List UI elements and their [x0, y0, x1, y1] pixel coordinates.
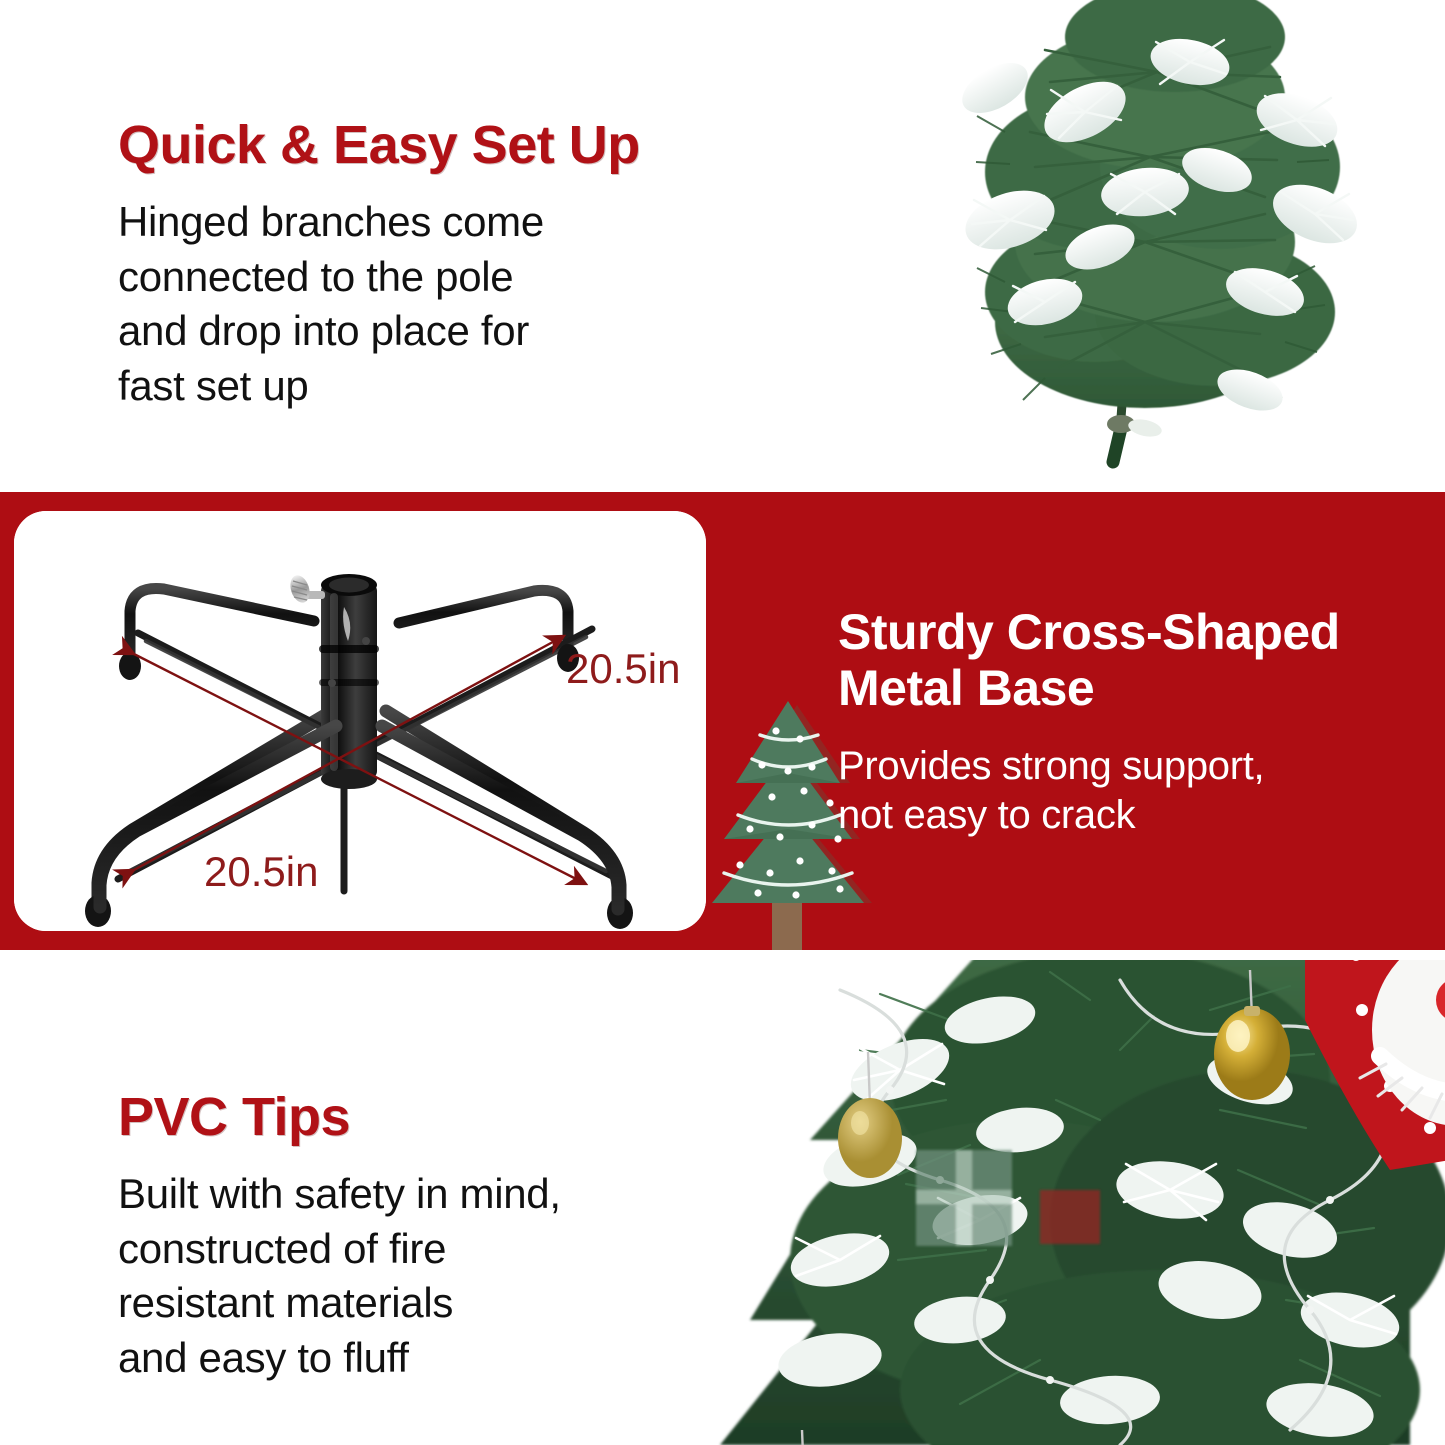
dimension-label-bottom-left: 20.5in: [204, 848, 318, 895]
dimension-label-top-right: 20.5in: [566, 645, 680, 692]
quick-setup-heading: Quick & Easy Set Up: [118, 118, 738, 173]
quick-setup-body: Hinged branches come connected to the po…: [118, 195, 738, 413]
decorated-tree-photo: [690, 960, 1445, 1445]
center-pole: [319, 574, 379, 789]
quick-setup-text-block: Quick & Easy Set Up Hinged branches come…: [118, 118, 738, 413]
quick-setup-section: Quick & Easy Set Up Hinged branches come…: [0, 0, 1445, 492]
metal-base-section: 20.5in 20.5in 20.5in 20.5in: [0, 492, 1445, 950]
metal-base-illustration: 20.5in 20.5in: [14, 511, 706, 931]
pvc-tips-text-block: PVC Tips Built with safety in mind, cons…: [118, 1090, 758, 1385]
flocked-branch-photo: [845, 0, 1445, 492]
flocked-branch-illustration: [845, 0, 1445, 492]
metal-base-body: Provides strong support, not easy to cra…: [838, 742, 1428, 840]
pvc-tips-section: PVC Tips Built with safety in mind, cons…: [0, 950, 1445, 1445]
metal-base-text-block: Sturdy Cross-Shaped Metal Base Provides …: [838, 604, 1428, 840]
metal-base-diagram: 20.5in 20.5in: [14, 511, 706, 931]
pvc-tips-body: Built with safety in mind, constructed o…: [118, 1167, 758, 1385]
pvc-tips-heading: PVC Tips: [118, 1090, 758, 1145]
metal-base-heading: Sturdy Cross-Shaped Metal Base: [838, 604, 1428, 716]
metal-base-card: 20.5in 20.5in 20.5in 20.5in: [14, 511, 706, 931]
decorated-tree-illustration: [690, 960, 1445, 1445]
